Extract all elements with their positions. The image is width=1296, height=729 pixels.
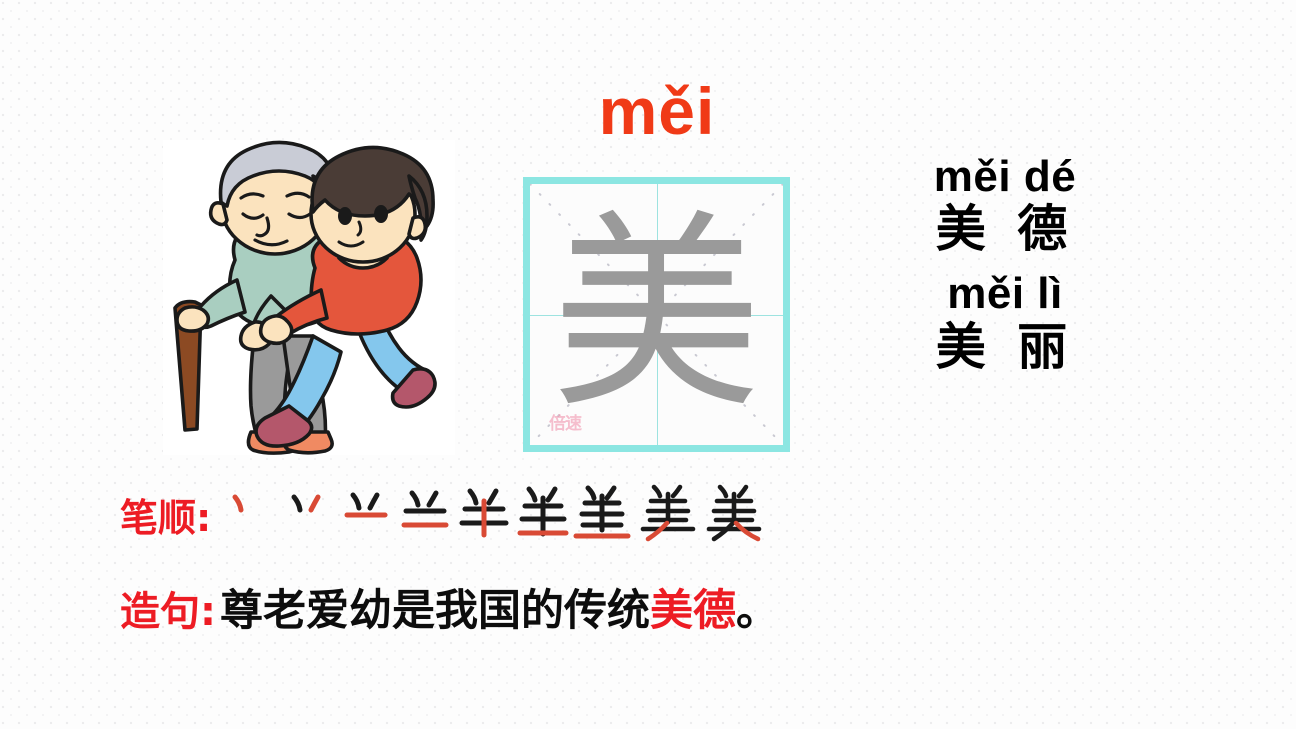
stroke-order-label: 笔顺:: [120, 487, 211, 542]
stroke-step-9: [703, 483, 765, 545]
target-character: 美: [530, 210, 783, 420]
vocabulary-list: měi dé 美 德 měi lì 美 丽: [860, 152, 1150, 387]
vocabulary-word: 美 丽: [860, 319, 1150, 375]
example-sentence-label: 造句:: [120, 579, 216, 637]
watermark-logo: 倍速: [536, 401, 594, 441]
sentence-part-plain: 尊老爱幼是我国的传统: [220, 576, 650, 638]
stroke-step-8: [637, 483, 699, 545]
character-practice-grid: 美 倍速: [523, 177, 790, 452]
stroke-step-2: [276, 483, 338, 545]
flashcard-page: měi: [0, 0, 1296, 729]
sentence-part-period: 。: [736, 576, 779, 638]
vocabulary-pinyin: měi lì: [860, 269, 1150, 318]
stroke-step-3: [335, 483, 397, 545]
vocabulary-entry-1: měi dé 美 德: [860, 152, 1150, 257]
stroke-order-section: 笔顺:: [120, 483, 860, 545]
vocabulary-entry-2: měi lì 美 丽: [860, 269, 1150, 374]
boy-helping-elderly-person-illustration: [163, 140, 455, 455]
vocabulary-word: 美 德: [860, 201, 1150, 257]
stroke-order-steps: [217, 483, 860, 545]
stroke-step-4: [394, 483, 456, 545]
grid-inner: 美 倍速: [530, 184, 783, 445]
vocabulary-pinyin: měi dé: [860, 152, 1150, 201]
stroke-step-5: [453, 483, 515, 545]
stroke-step-6: [512, 483, 574, 545]
example-sentence-section: 造句: 尊老爱幼是我国的传统 美德 。: [120, 576, 1170, 638]
stroke-step-1: [217, 483, 279, 545]
illustration-panel: [163, 140, 455, 455]
stroke-step-7: [571, 483, 633, 545]
page-title-pinyin: měi: [523, 78, 791, 144]
sentence-part-highlight: 美德: [650, 576, 736, 638]
watermark-text: 倍速: [536, 401, 594, 441]
